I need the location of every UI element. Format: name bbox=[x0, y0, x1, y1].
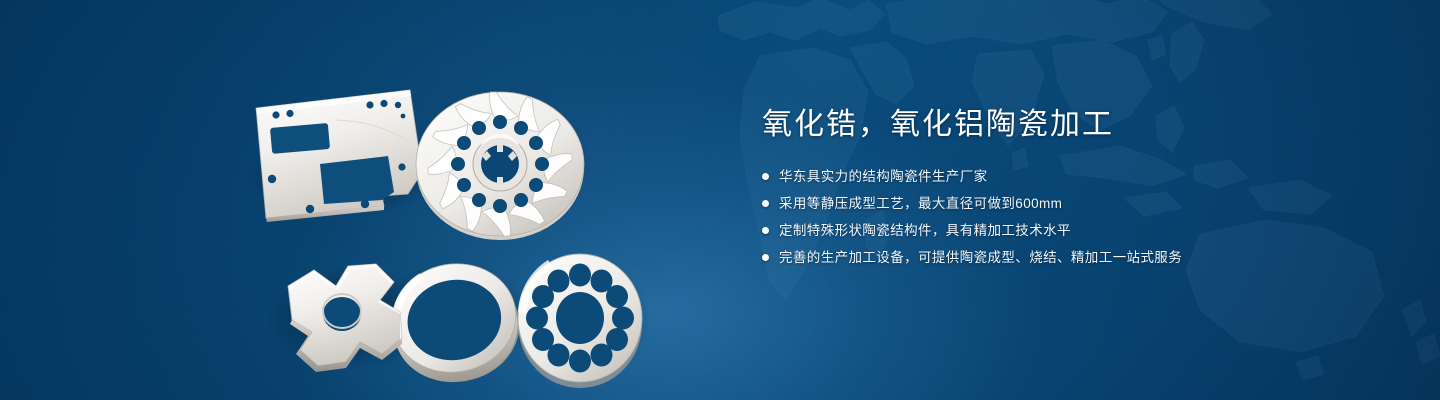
bullet-dot-icon bbox=[762, 227, 769, 234]
feature-list: 华东具实力的结构陶瓷件生产厂家 采用等静压成型工艺，最大直径可做到600mm 定… bbox=[762, 166, 1322, 268]
list-item: 华东具实力的结构陶瓷件生产厂家 bbox=[762, 166, 1322, 187]
bullet-dot-icon bbox=[762, 254, 769, 261]
list-item-label: 完善的生产加工设备，可提供陶瓷成型、烧结、精加工一站式服务 bbox=[779, 247, 1182, 268]
bullet-dot-icon bbox=[762, 173, 769, 180]
hero-banner: 氧化锆，氧化铝陶瓷加工 华东具实力的结构陶瓷件生产厂家 采用等静压成型工艺，最大… bbox=[0, 0, 1440, 400]
list-item-label: 采用等静压成型工艺，最大直径可做到600mm bbox=[779, 193, 1062, 214]
list-item: 完善的生产加工设备，可提供陶瓷成型、烧结、精加工一站式服务 bbox=[762, 247, 1322, 268]
list-item: 采用等静压成型工艺，最大直径可做到600mm bbox=[762, 193, 1322, 214]
list-item: 定制特殊形状陶瓷结构件，具有精加工技术水平 bbox=[762, 220, 1322, 241]
bullet-dot-icon bbox=[762, 200, 769, 207]
banner-copy: 氧化锆，氧化铝陶瓷加工 华东具实力的结构陶瓷件生产厂家 采用等静压成型工艺，最大… bbox=[762, 104, 1322, 274]
page-title: 氧化锆，氧化铝陶瓷加工 bbox=[762, 104, 1322, 146]
list-item-label: 定制特殊形状陶瓷结构件，具有精加工技术水平 bbox=[779, 220, 1071, 241]
list-item-label: 华东具实力的结构陶瓷件生产厂家 bbox=[779, 166, 988, 187]
